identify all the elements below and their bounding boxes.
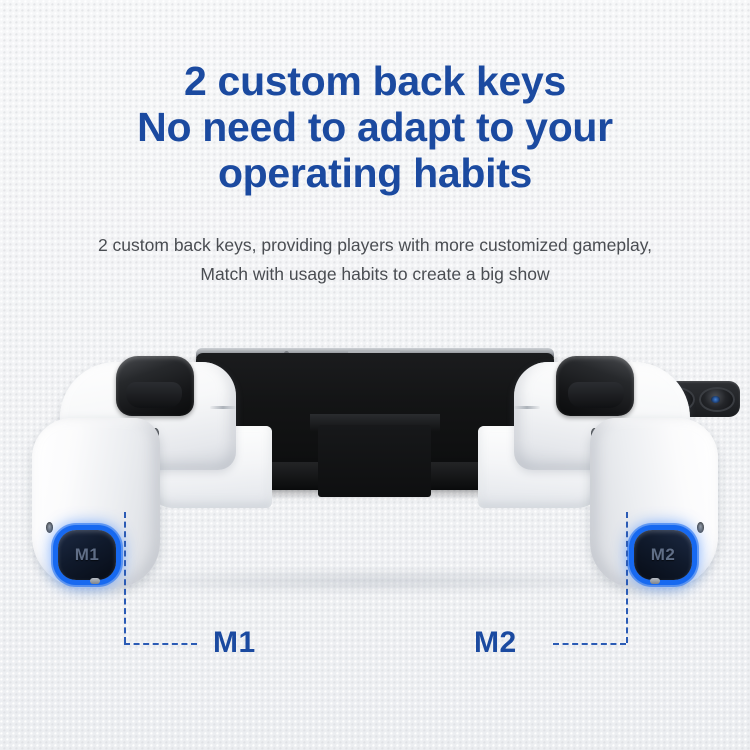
back-key-m1[interactable]: M1 bbox=[58, 530, 116, 580]
callout-label-m1: M1 bbox=[213, 628, 256, 658]
controller-left-grip: M1 bbox=[32, 418, 160, 588]
product-photo: M1 M2 bbox=[0, 330, 750, 630]
subheadline: 2 custom back keys, providing players wi… bbox=[0, 231, 750, 289]
headline-line-1: 2 custom back keys bbox=[0, 58, 750, 104]
back-key-m1-glyph: M1 bbox=[58, 530, 116, 580]
vent-hole-icon bbox=[697, 522, 704, 533]
callout-m1-vertical-line bbox=[124, 512, 126, 643]
grip-screw-icon bbox=[90, 578, 100, 584]
back-key-m2-glyph: M2 bbox=[634, 530, 692, 580]
headline-line-3: operating habits bbox=[0, 150, 750, 196]
callout-m2-horizontal-line bbox=[553, 643, 626, 645]
subheadline-line-1: 2 custom back keys, providing players wi… bbox=[0, 231, 750, 260]
headline: 2 custom back keys No need to adapt to y… bbox=[0, 58, 750, 196]
callout-m2-vertical-line bbox=[626, 512, 628, 643]
callout-label-m2: M2 bbox=[474, 628, 517, 658]
controller-bridge bbox=[318, 425, 431, 497]
callout-m1-horizontal-line bbox=[124, 643, 197, 645]
product-marketing-image: 2 custom back keys No need to adapt to y… bbox=[0, 0, 750, 750]
subheadline-line-2: Match with usage habits to create a big … bbox=[0, 260, 750, 289]
vent-hole-icon bbox=[46, 522, 53, 533]
left-trigger-button[interactable] bbox=[116, 356, 194, 416]
controller-right-half: M2 bbox=[480, 360, 726, 592]
headline-line-2: No need to adapt to your bbox=[0, 104, 750, 150]
back-key-m2[interactable]: M2 bbox=[634, 530, 692, 580]
right-trigger-button[interactable] bbox=[556, 356, 634, 416]
controller-left-half: M1 bbox=[24, 360, 270, 592]
grip-screw-icon bbox=[650, 578, 660, 584]
controller-seam bbox=[514, 406, 540, 409]
controller-seam bbox=[210, 406, 236, 409]
controller-right-grip: M2 bbox=[590, 418, 718, 588]
